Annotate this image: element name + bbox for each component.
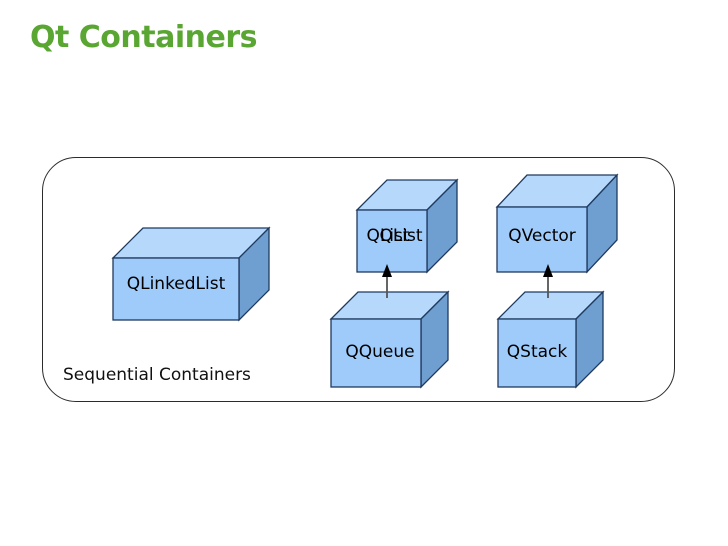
cube-front-face [331,319,421,387]
node-qlist[interactable]: QList QList [357,180,457,272]
cube-front-face [498,319,576,387]
cube-front-face [497,207,587,272]
arrowhead-up-icon [382,264,392,277]
node-qvector[interactable]: QVector [497,175,617,272]
cube-front-face [357,210,427,272]
slide: Qt Containers Sequential Containers QLin… [0,0,728,546]
cube-front-face [113,258,239,320]
node-qqueue[interactable]: QQueue [331,292,448,387]
arrowhead-up-icon [543,264,553,277]
node-qlinkedlist[interactable]: QLinkedList [113,228,269,320]
edge-qstack-to-qvector [541,264,555,298]
sequential-containers-label: Sequential Containers [63,365,251,385]
containers-diagram: Sequential Containers QLinkedList QList … [0,0,728,546]
node-qstack[interactable]: QStack [498,292,603,387]
edge-qqueue-to-qlist [380,264,394,298]
